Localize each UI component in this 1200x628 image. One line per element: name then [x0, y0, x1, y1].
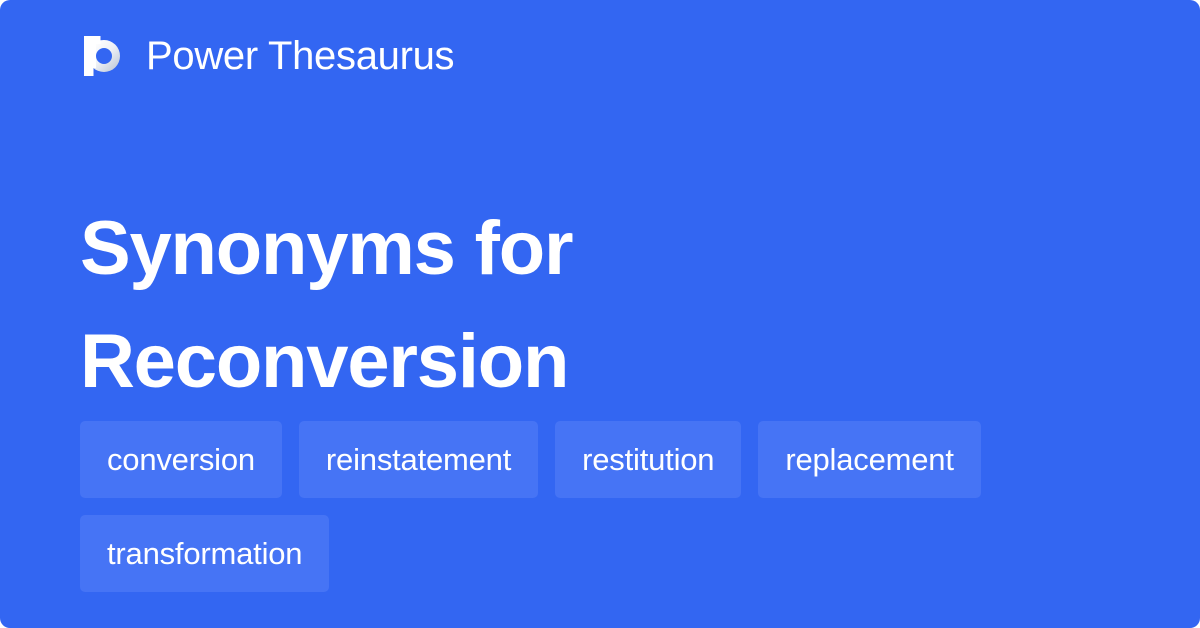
- brand-header[interactable]: power thesaurus: [80, 28, 454, 84]
- page-title-line-2: Reconversion: [80, 305, 1080, 418]
- social-share-card: power thesaurus Synonyms for Reconversio…: [0, 0, 1200, 628]
- power-thesaurus-b-logo-icon: [80, 32, 128, 80]
- synonym-chip[interactable]: reinstatement: [299, 421, 538, 498]
- synonym-chip[interactable]: restitution: [555, 421, 741, 498]
- synonym-chip[interactable]: transformation: [80, 515, 329, 592]
- page-title: Synonyms for Reconversion: [80, 192, 1080, 418]
- page-title-line-1: Synonyms for: [80, 192, 1080, 305]
- synonym-chip-list: conversion reinstatement restitution rep…: [80, 421, 1120, 592]
- synonym-chip[interactable]: replacement: [758, 421, 980, 498]
- synonym-chip[interactable]: conversion: [80, 421, 282, 498]
- brand-name: power thesaurus: [146, 36, 454, 76]
